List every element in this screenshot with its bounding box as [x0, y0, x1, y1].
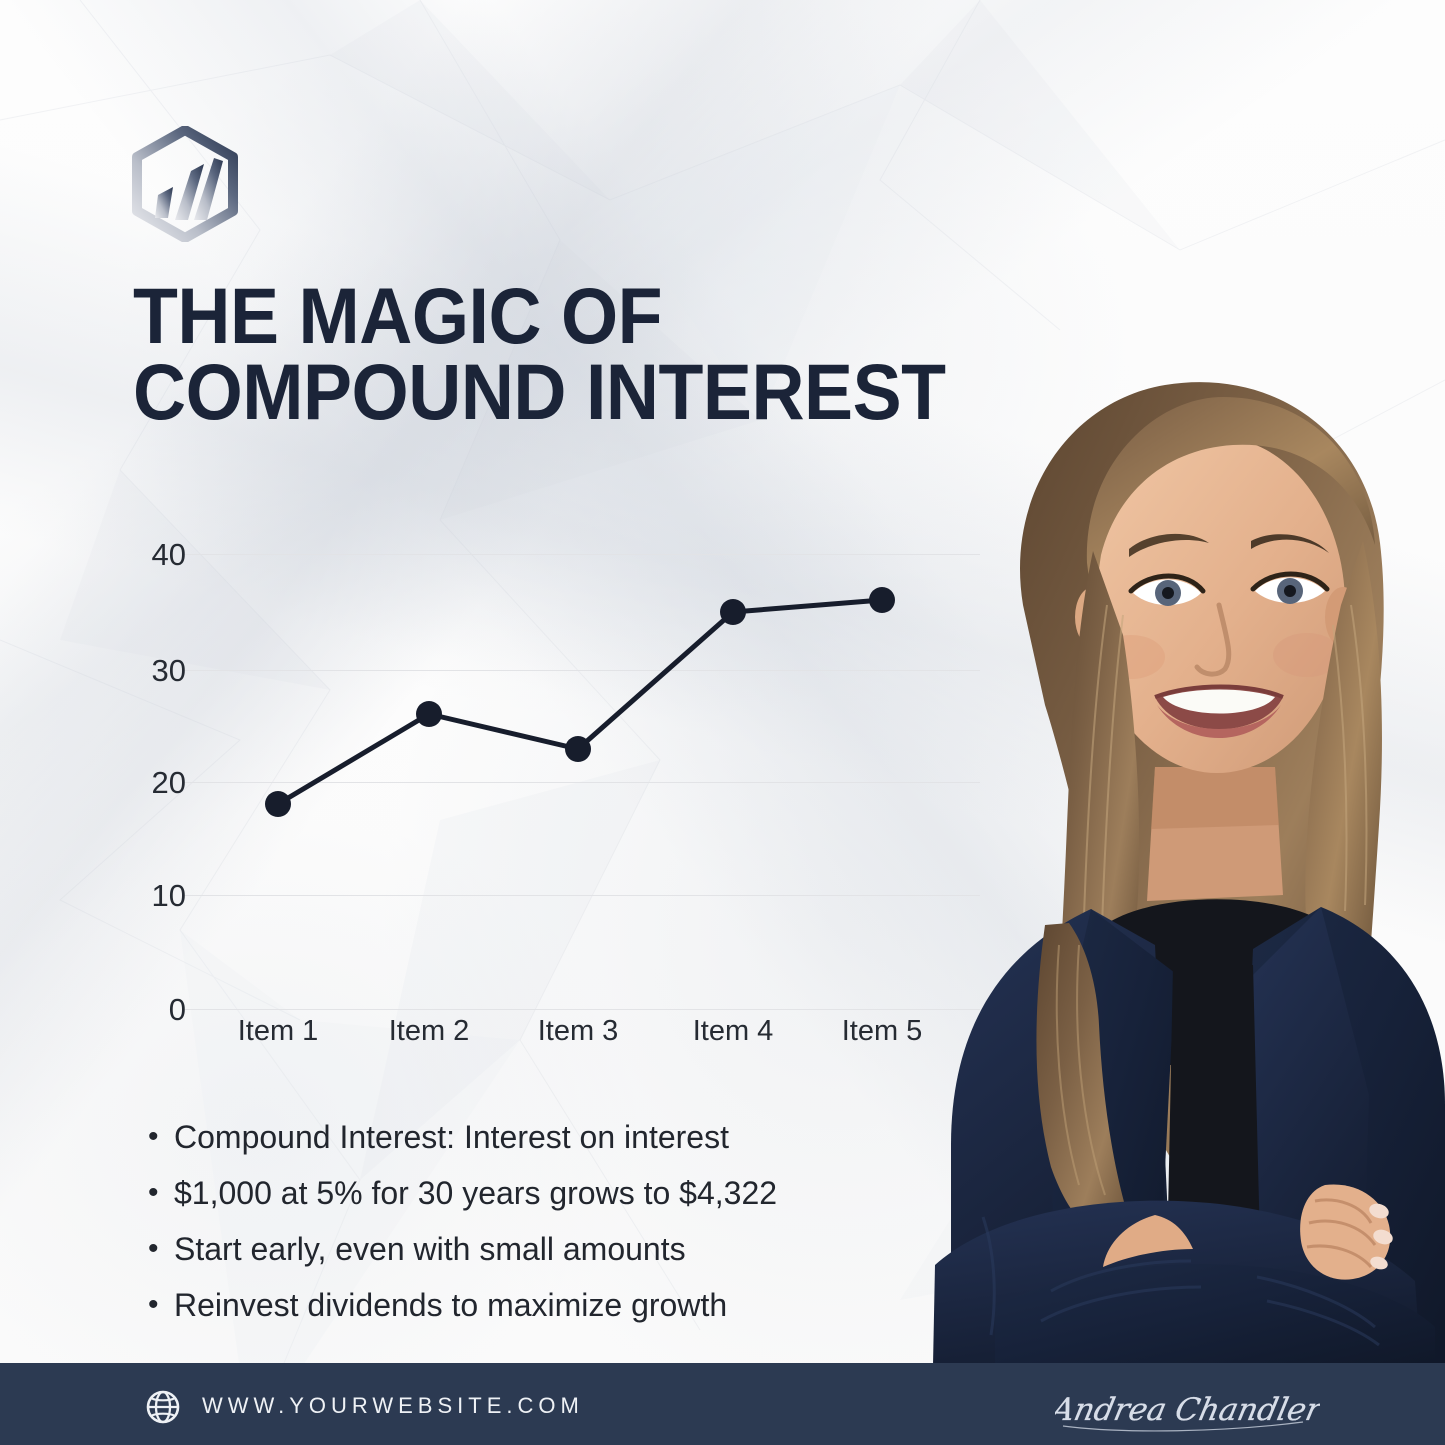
- bullet-marker-icon: •: [148, 1283, 174, 1327]
- chart-plot-area: [140, 520, 980, 1020]
- x-tick-label-item-2: Item 2: [389, 1017, 470, 1046]
- poster-canvas: THE MAGIC OF COMPOUND INTEREST 40 30 20 …: [0, 0, 1445, 1445]
- data-point-item-4[interactable]: [720, 599, 746, 625]
- data-point-item-3[interactable]: [565, 736, 591, 762]
- list-item-label: Compound Interest: Interest on interest: [174, 1115, 908, 1159]
- signature: Andrea Chandler: [1055, 1378, 1320, 1438]
- key-points-list: • Compound Interest: Interest on interes…: [148, 1115, 908, 1339]
- brand-logo: [128, 126, 242, 242]
- website-url[interactable]: WWW.YOURWEBSITE.COM: [202, 1393, 584, 1419]
- presenter-photo: [855, 305, 1445, 1365]
- line-chart: 40 30 20 10 0 Item 1 Item 2 Item 3 Item …: [140, 520, 980, 1060]
- signature-script: Andrea Chandler: [1055, 1378, 1320, 1438]
- series-line: [278, 600, 882, 804]
- bullet-marker-icon: •: [148, 1115, 174, 1159]
- neck-shadow: [1151, 767, 1279, 829]
- bullet-marker-icon: •: [148, 1227, 174, 1271]
- x-tick-label-item-1: Item 1: [238, 1017, 319, 1046]
- bullet-marker-icon: •: [148, 1171, 174, 1215]
- hexagon-growth-logo-icon: [128, 126, 242, 242]
- list-item: • $1,000 at 5% for 30 years grows to $4,…: [148, 1171, 908, 1215]
- x-tick-label-item-3: Item 3: [538, 1017, 619, 1046]
- presenter-illustration: [855, 305, 1445, 1365]
- list-item: • Compound Interest: Interest on interes…: [148, 1115, 908, 1159]
- list-item-label: $1,000 at 5% for 30 years grows to $4,32…: [174, 1171, 908, 1215]
- list-item: • Reinvest dividends to maximize growth: [148, 1283, 908, 1327]
- data-point-item-1[interactable]: [265, 791, 291, 817]
- data-point-item-2[interactable]: [416, 701, 442, 727]
- list-item-label: Start early, even with small amounts: [174, 1227, 908, 1271]
- pupil-left: [1162, 587, 1174, 599]
- pupil-right: [1284, 585, 1296, 597]
- signature-text: Andrea Chandler: [1055, 1392, 1320, 1428]
- list-item: • Start early, even with small amounts: [148, 1227, 908, 1271]
- x-tick-label-item-4: Item 4: [693, 1017, 774, 1046]
- globe-icon: [146, 1390, 180, 1424]
- list-item-label: Reinvest dividends to maximize growth: [174, 1283, 908, 1327]
